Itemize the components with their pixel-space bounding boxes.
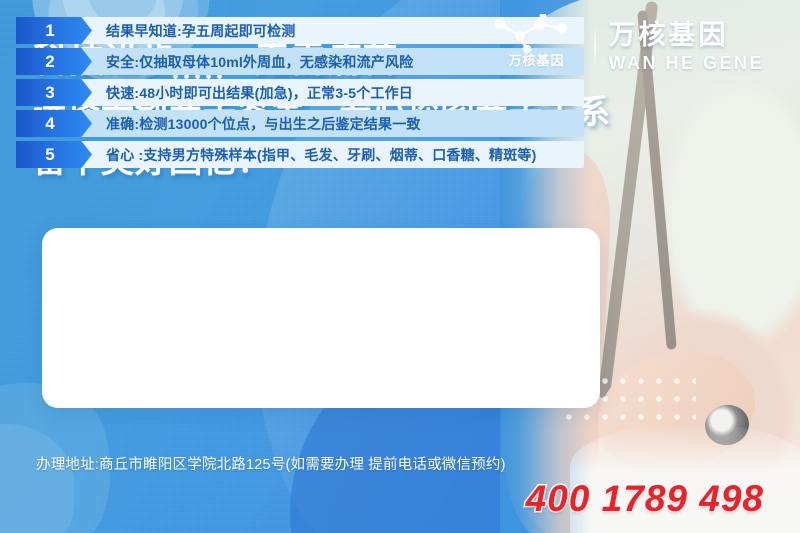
feature-row-text: 准确:检测13000个位点，与出生之后鉴定结果一致	[106, 114, 421, 134]
logo-name-en: WAN HE GENE	[608, 54, 764, 72]
feature-row-text: 快速:48小时即可出结果(加急)，正常3-5个工作日	[106, 83, 413, 103]
feature-row[interactable]: 3 快速:48小时即可出结果(加急)，正常3-5个工作日	[16, 79, 584, 106]
logo-wordmark: 万核基因 WAN HE GENE	[608, 22, 764, 72]
feature-row-text: 省心 :支持男方特殊样本(指甲、毛发、牙刷、烟蒂、口香糖、精斑等)	[106, 145, 536, 165]
feature-row[interactable]: 5 省心 :支持男方特殊样本(指甲、毛发、牙刷、烟蒂、口香糖、精斑等)	[16, 141, 584, 168]
logo-divider	[594, 26, 596, 68]
office-address: 办理地址:商丘市睢阳区学院北路125号(如需要办理 提前电话或微信预约)	[36, 453, 506, 474]
feature-row[interactable]: 4 准确:检测13000个位点，与出生之后鉴定结果一致	[16, 110, 584, 137]
logo-mark-label: 万核基因	[490, 50, 582, 69]
promo-poster: 万核基因 万核基因 WAN HE GENE 科技进步 无需痛苦 选择无创亲子鉴定…	[0, 0, 800, 533]
feature-number-badge: 3	[16, 79, 92, 106]
feature-number-badge: 2	[16, 48, 92, 75]
hotline-phone-number[interactable]: 400 1789 498	[526, 478, 764, 520]
brand-logo[interactable]: 万核基因 万核基因 WAN HE GENE	[490, 14, 764, 80]
feature-number-badge: 4	[16, 110, 92, 137]
feature-row-text: 安全:仅抽取母体10ml外周血，无感染和流产风险	[106, 52, 413, 72]
feature-number-badge: 5	[16, 141, 92, 168]
feature-row-text: 结果早知道:孕五周起即可检测	[106, 21, 295, 41]
logo-name-cn: 万核基因	[608, 22, 764, 49]
feature-number-badge: 1	[16, 17, 92, 44]
molecule-dna-icon: 万核基因	[490, 14, 582, 80]
features-card	[42, 228, 600, 408]
